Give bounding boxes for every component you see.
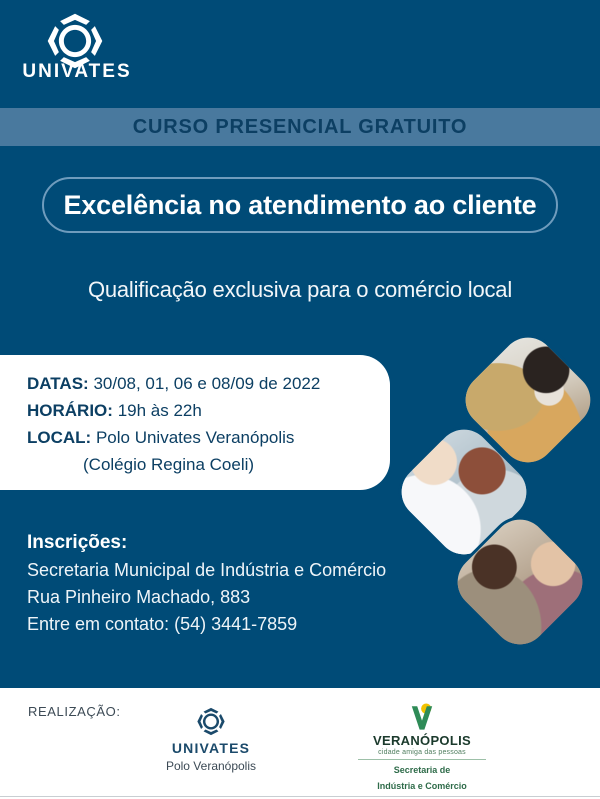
registration-office: Secretaria Municipal de Indústria e Comé…	[27, 557, 407, 584]
footer-city-tagline: cidade amiga das pessoas	[358, 749, 486, 760]
registration-phone: Entre em contato: (54) 3441-7859	[27, 611, 407, 638]
veranopolis-v-leaf-logo-icon	[407, 702, 437, 732]
detail-label-time: HORÁRIO:	[27, 401, 113, 420]
footer-city-name: VERANÓPOLIS	[358, 733, 486, 748]
detail-value-dates: 30/08, 01, 06 e 08/09 de 2022	[93, 374, 320, 393]
detail-label-dates: DATAS:	[27, 374, 89, 393]
footer-city-department-line1: Secretaria de	[358, 764, 486, 776]
photo-collage	[420, 340, 600, 665]
course-details-card: DATAS: 30/08, 01, 06 e 08/09 de 2022 HOR…	[0, 355, 390, 490]
banner-band: CURSO PRESENCIAL GRATUITO	[0, 108, 600, 146]
univates-octagon-logo-icon	[194, 706, 228, 737]
detail-value-location: Polo Univates Veranópolis	[96, 428, 294, 447]
detail-row-dates: DATAS: 30/08, 01, 06 e 08/09 de 2022	[27, 370, 390, 397]
detail-row-time: HORÁRIO: 19h às 22h	[27, 397, 390, 424]
footer-divider	[0, 796, 600, 797]
footer-univates-logo: UNIVATES Polo Veranópolis	[150, 706, 272, 773]
registration-heading: Inscrições:	[27, 528, 407, 557]
detail-row-location: LOCAL: Polo Univates Veranópolis	[27, 424, 390, 451]
detail-label-location: LOCAL:	[27, 428, 91, 447]
course-subtitle: Qualificação exclusiva para o comércio l…	[0, 277, 600, 303]
detail-value-time: 19h às 22h	[118, 401, 202, 420]
footer-realization-label: REALIZAÇÃO:	[28, 704, 121, 719]
course-poster: UNIVATES CURSO PRESENCIAL GRATUITO Excel…	[0, 0, 600, 799]
footer-city-logo: VERANÓPOLIS cidade amiga das pessoas Sec…	[358, 702, 486, 792]
poster-footer: REALIZAÇÃO: UNIVATES Polo Veranópolis	[0, 688, 600, 799]
page-title: Excelência no atendimento ao cliente	[64, 190, 537, 221]
footer-univates-wordmark: UNIVATES	[150, 740, 272, 756]
course-title-pill: Excelência no atendimento ao cliente	[42, 177, 558, 233]
banner-text: CURSO PRESENCIAL GRATUITO	[133, 116, 467, 139]
footer-city-department-line2: Indústria e Comércio	[358, 780, 486, 792]
detail-value-location-second-line: (Colégio Regina Coeli)	[27, 451, 390, 478]
brand-wordmark: UNIVATES	[22, 61, 132, 83]
registration-block: Inscrições: Secretaria Municipal de Indú…	[27, 528, 407, 638]
registration-address: Rua Pinheiro Machado, 883	[27, 584, 407, 611]
footer-univates-unit: Polo Veranópolis	[150, 759, 272, 773]
poster-header: UNIVATES	[0, 0, 600, 108]
